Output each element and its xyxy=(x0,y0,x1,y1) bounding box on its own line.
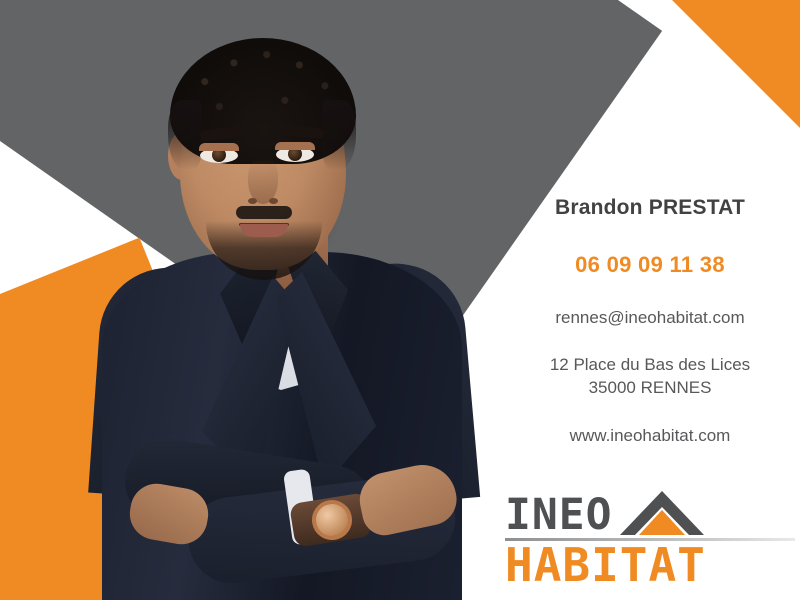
business-card: Brandon PRESTAT 06 09 09 11 38 rennes@in… xyxy=(0,0,800,600)
roof-chevron-icon xyxy=(619,490,705,536)
portrait-photo xyxy=(60,0,510,600)
address-line-1: 12 Place du Bas des Lices xyxy=(500,354,800,377)
hair-fade-right xyxy=(322,100,356,170)
contact-email[interactable]: rennes@ineohabitat.com xyxy=(500,308,800,328)
company-logo: INEO HABITAT xyxy=(505,488,795,600)
contact-phone[interactable]: 06 09 09 11 38 xyxy=(500,252,800,278)
hair-fade-left xyxy=(168,100,202,170)
contact-name: Brandon PRESTAT xyxy=(500,196,800,220)
eyelid-left xyxy=(199,143,239,151)
mouth xyxy=(240,224,288,237)
logo-word-habitat: HABITAT xyxy=(505,542,706,588)
logo-top-row: INEO xyxy=(505,488,795,536)
portrait-illustration xyxy=(60,0,510,600)
eyelid-right xyxy=(275,142,315,150)
logo-word-ineo: INEO xyxy=(505,495,613,536)
contact-info-block: Brandon PRESTAT 06 09 09 11 38 rennes@in… xyxy=(500,196,800,446)
contact-address: 12 Place du Bas des Lices 35000 RENNES xyxy=(500,354,800,400)
moustache xyxy=(236,206,292,219)
address-line-2: 35000 RENNES xyxy=(500,377,800,400)
orange-corner-triangle xyxy=(672,0,800,128)
contact-website[interactable]: www.ineohabitat.com xyxy=(500,426,800,446)
